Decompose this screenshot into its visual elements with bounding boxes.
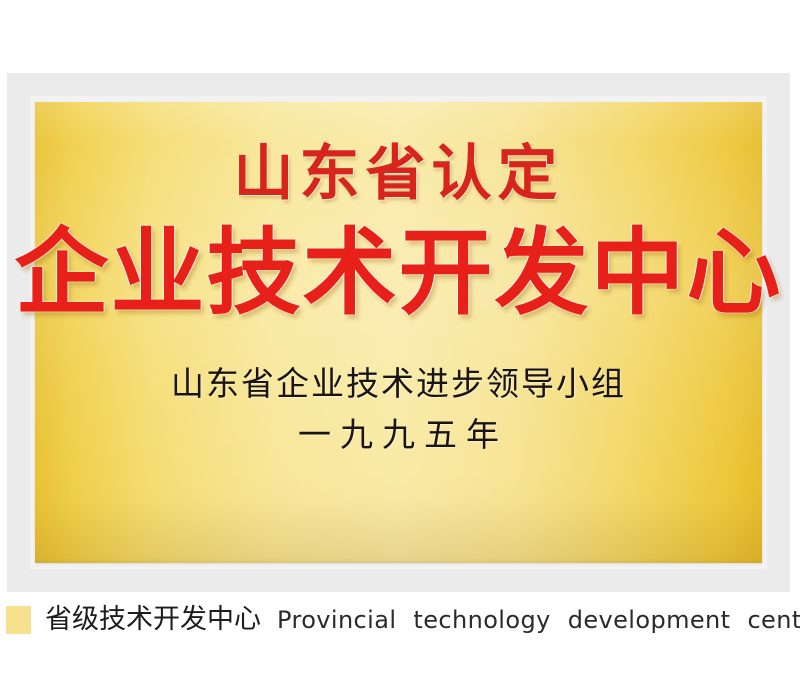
square-bullet-icon: [6, 606, 31, 634]
award-plaque: 山东省认定 企业技术开发中心 山东省企业技术进步领导小组 一九九五年: [35, 102, 762, 563]
caption-label-en: Provincial technology development center: [277, 606, 800, 634]
plaque-title: 企业技术开发中心: [15, 227, 783, 321]
plaque-year: 一九九五年: [289, 418, 508, 453]
caption-strip: 省级技术开发中心 Provincial technology developme…: [0, 597, 800, 697]
plaque-text-block: 山东省认定 企业技术开发中心 山东省企业技术进步领导小组 一九九五年: [35, 102, 762, 563]
product-photo: 山东省认定 企业技术开发中心 山东省企业技术进步领导小组 一九九五年: [0, 0, 800, 597]
plaque-headline: 山东省认定: [234, 144, 564, 205]
caption-label-zh: 省级技术开发中心: [45, 606, 261, 634]
caption-row: 省级技术开发中心 Provincial technology developme…: [6, 606, 800, 634]
plaque-issuing-organization: 山东省企业技术进步领导小组: [171, 367, 626, 402]
